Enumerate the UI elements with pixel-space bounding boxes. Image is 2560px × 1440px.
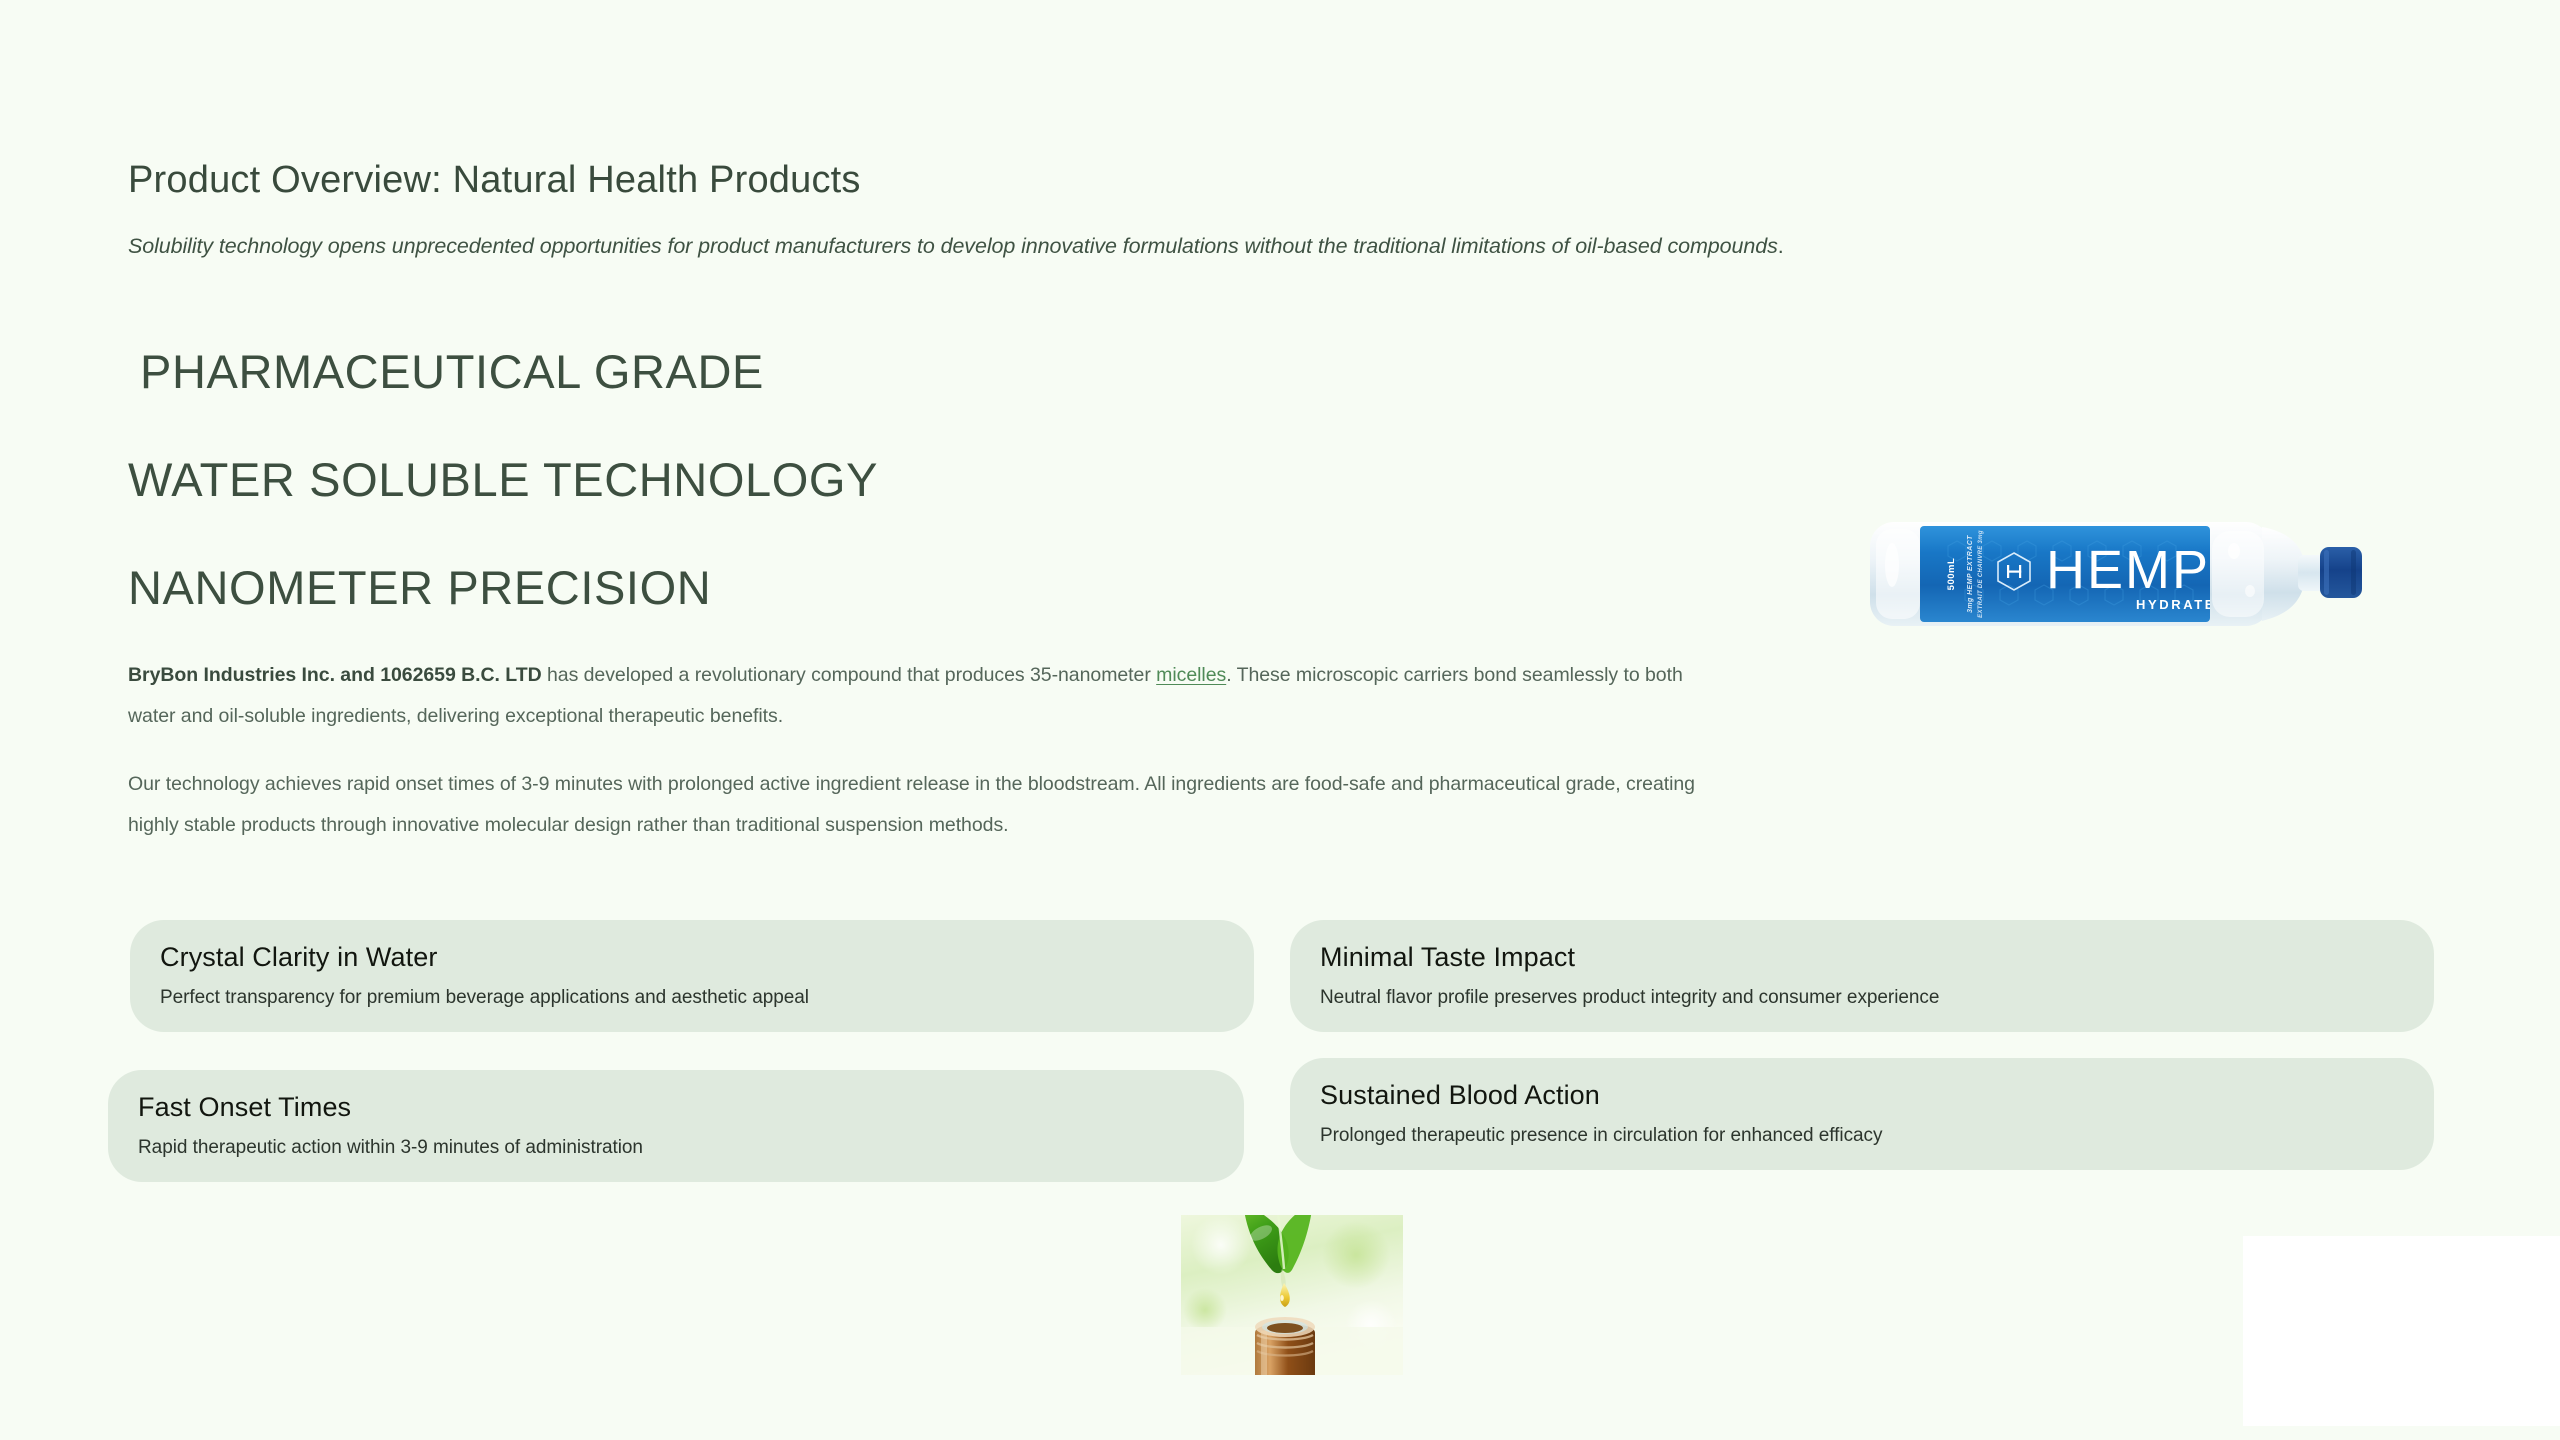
body-copy: BryBon Industries Inc. and 1062659 B.C. … xyxy=(128,655,1698,873)
feature-card-minimal-taste[interactable]: Minimal Taste Impact Neutral flavor prof… xyxy=(1290,920,2434,1032)
feature-cards: Crystal Clarity in Water Perfect transpa… xyxy=(0,908,2560,1208)
feature-card-description: Perfect transparency for premium beverag… xyxy=(160,987,1224,1009)
company-names: BryBon Industries Inc. and 1062659 B.C. … xyxy=(128,664,542,686)
body-paragraph-1: BryBon Industries Inc. and 1062659 B.C. … xyxy=(128,655,1698,737)
feature-card-description: Rapid therapeutic action within 3-9 minu… xyxy=(138,1137,1214,1159)
hero-line-1: PHARMACEUTICAL GRADE xyxy=(128,318,1428,426)
feature-card-title: Sustained Blood Action xyxy=(1320,1080,2404,1111)
feature-card-description: Neutral flavor profile preserves product… xyxy=(1320,987,2404,1009)
feature-card-description: Prolonged therapeutic presence in circul… xyxy=(1320,1125,2404,1147)
hemp-hydrate-bottle-image: 500mL 3mg HEMP EXTRACT EXTRAIT DE CHANVR… xyxy=(1862,505,2382,640)
background-panel xyxy=(2243,1236,2560,1426)
hero-line-3: NANOMETER PRECISION xyxy=(128,534,1428,642)
page-subtitle: Solubility technology opens unprecedente… xyxy=(128,234,1784,259)
hero-line-2: WATER SOLUBLE TECHNOLOGY xyxy=(128,426,1428,534)
feature-card-title: Crystal Clarity in Water xyxy=(160,942,1224,973)
hero-headline-block: PHARMACEUTICAL GRADE WATER SOLUBLE TECHN… xyxy=(128,318,1428,642)
body-paragraph-2: Our technology achieves rapid onset time… xyxy=(128,764,1698,846)
feature-card-title: Fast Onset Times xyxy=(138,1092,1214,1123)
feature-card-title: Minimal Taste Impact xyxy=(1320,942,2404,973)
page-title: Product Overview: Natural Health Product… xyxy=(128,159,861,202)
bottle-brand-text: HEMP xyxy=(2046,540,2210,600)
bottle-extract-text-fr: EXTRAIT DE CHANVRE 3mg xyxy=(1978,530,1984,618)
leaf-oil-illustration xyxy=(1181,1215,1403,1375)
bottle-subbrand-text: HYDRATE xyxy=(2136,597,2216,612)
feature-card-fast-onset[interactable]: Fast Onset Times Rapid therapeutic actio… xyxy=(108,1070,1244,1182)
bottle-volume-text: 500mL xyxy=(1946,558,1957,591)
paragraph-1-pre-link: has developed a revolutionary compound t… xyxy=(542,664,1157,686)
micelles-link[interactable]: micelles xyxy=(1156,664,1226,686)
page-subtitle-text: Solubility technology opens unprecedente… xyxy=(128,234,1778,258)
leaf-oil-drop-image xyxy=(1181,1215,1403,1375)
feature-card-sustained-blood-action[interactable]: Sustained Blood Action Prolonged therape… xyxy=(1290,1058,2434,1170)
product-overview-page: Product Overview: Natural Health Product… xyxy=(0,0,2560,1440)
feature-card-crystal-clarity[interactable]: Crystal Clarity in Water Perfect transpa… xyxy=(130,920,1254,1032)
bottle-extract-text: 3mg HEMP EXTRACT xyxy=(1967,535,1974,613)
bottle-illustration: 500mL 3mg HEMP EXTRACT EXTRAIT DE CHANVR… xyxy=(1862,505,2382,640)
page-subtitle-period: . xyxy=(1778,234,1784,258)
